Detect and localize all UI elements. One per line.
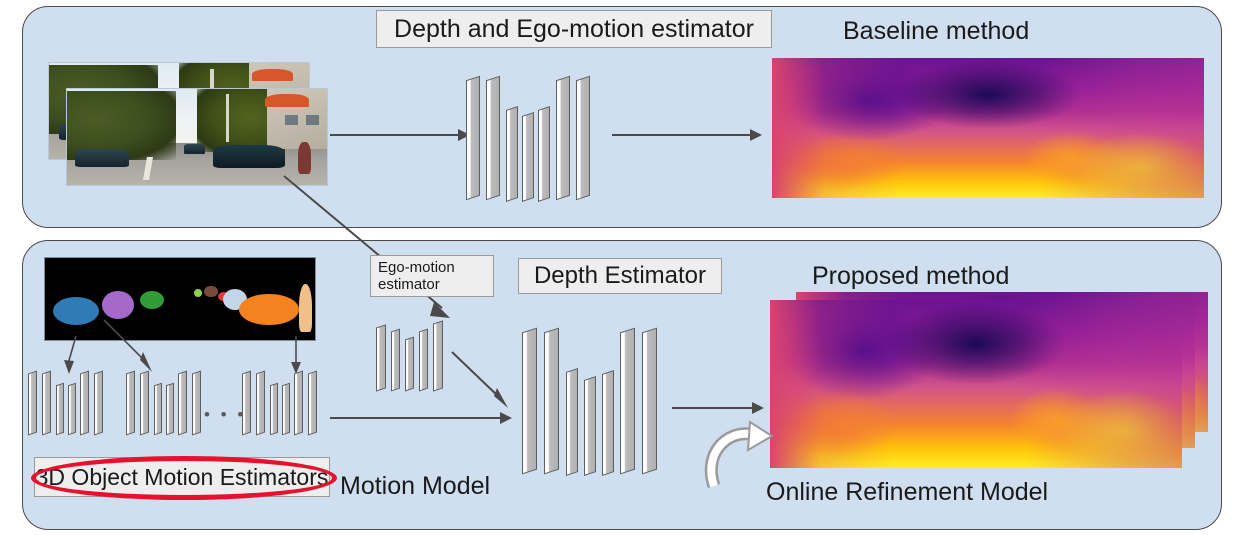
net-slab	[166, 383, 174, 436]
ego-motion-estimator-label: Ego-motion estimator	[370, 255, 494, 297]
net-slab	[140, 371, 149, 436]
net-slab	[538, 106, 550, 202]
mask-blob-orange	[239, 294, 298, 325]
net-slab	[556, 76, 570, 201]
proposed-depth-map-front	[770, 300, 1182, 468]
pole-1	[226, 94, 230, 142]
window-2	[285, 115, 298, 125]
awning-1	[252, 69, 294, 81]
car-right	[213, 145, 286, 168]
highlight-ellipse	[31, 456, 337, 500]
object-motion-estimator-net-1	[26, 368, 106, 454]
net-slab	[28, 371, 37, 436]
net-slab	[270, 383, 278, 436]
net-slab	[256, 371, 265, 436]
net-slab	[192, 371, 201, 436]
net-slab	[308, 371, 317, 436]
input-frame-front	[66, 88, 328, 186]
net-slab	[178, 371, 187, 436]
net-slab	[154, 383, 162, 436]
depth-estimator-net	[518, 310, 658, 500]
mask-blob-lime	[194, 289, 202, 297]
online-refinement-model-label: Online Refinement Model	[766, 478, 1048, 507]
net-slab	[419, 329, 428, 392]
net-slab	[576, 76, 590, 201]
net-slab	[602, 370, 614, 476]
net-slab	[486, 76, 500, 201]
instance-segmentation-mask	[44, 257, 316, 341]
net-slab	[522, 328, 537, 475]
net-slab	[242, 371, 251, 436]
net-slab	[405, 337, 414, 392]
net-slab	[68, 383, 76, 436]
mask-blob-person	[299, 284, 313, 332]
motion-model-label: Motion Model	[340, 472, 490, 501]
mask-blob-blue	[53, 297, 99, 325]
ellipsis-more-estimators: • • •	[204, 405, 246, 425]
net-slab	[642, 328, 657, 475]
car-left	[75, 149, 130, 167]
net-slab	[433, 320, 443, 391]
net-slab	[94, 371, 103, 436]
mask-blob-brown	[204, 286, 218, 297]
net-slab	[56, 383, 64, 436]
net-slab	[282, 383, 290, 436]
net-slab	[506, 106, 518, 202]
net-slab	[566, 368, 578, 476]
net-slab	[620, 328, 635, 475]
net-slab	[294, 371, 303, 436]
depth-estimator-label: Depth Estimator	[518, 258, 722, 294]
net-slab	[80, 371, 89, 436]
net-slab	[544, 328, 559, 475]
mask-blob-purple	[102, 291, 134, 319]
awning-1	[265, 94, 309, 107]
ego-motion-net	[374, 318, 448, 402]
net-slab	[42, 371, 51, 436]
proposed-method-label: Proposed method	[812, 262, 1009, 291]
net-slab	[376, 324, 386, 391]
object-motion-estimator-net-2	[124, 368, 204, 454]
pedestrian	[298, 142, 311, 175]
depth-ego-motion-estimator-label: Depth and Ego-motion estimator	[376, 10, 772, 48]
mask-blob-green	[140, 291, 164, 309]
net-slab	[126, 371, 135, 436]
net-slab	[391, 329, 400, 392]
baseline-depth-map	[772, 58, 1204, 198]
baseline-method-label: Baseline method	[843, 17, 1029, 46]
window-1	[306, 115, 319, 125]
net-slab	[522, 112, 534, 202]
object-motion-estimator-net-n	[240, 368, 320, 454]
car-far	[184, 144, 205, 155]
net-slab	[466, 76, 480, 201]
baseline-encoder-decoder-net	[462, 58, 592, 218]
net-slab	[584, 376, 596, 476]
